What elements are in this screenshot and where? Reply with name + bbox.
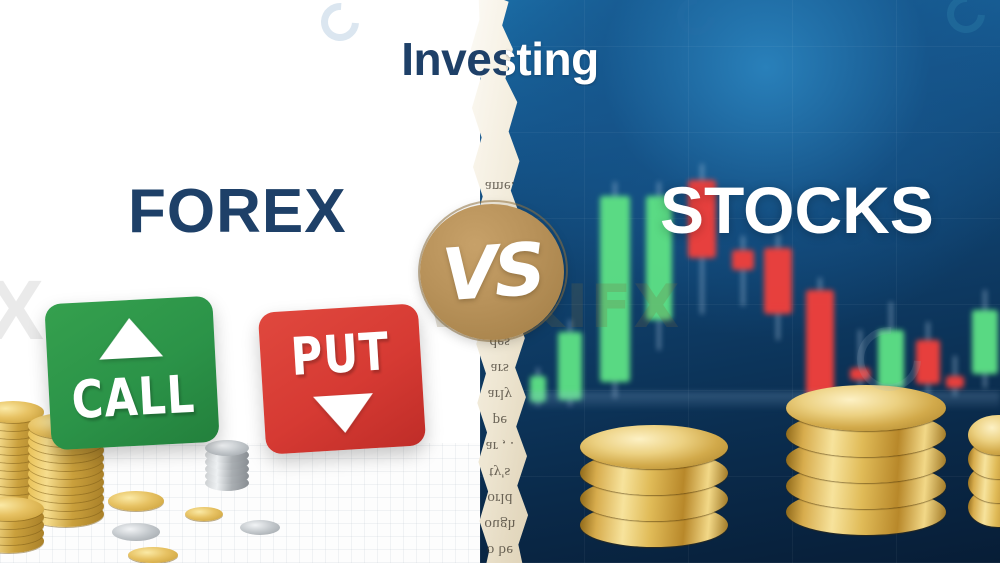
gold-coin-stack — [128, 547, 178, 563]
left-edge-watermark: X — [0, 262, 44, 359]
silver-coin — [205, 440, 249, 456]
candle-body — [600, 196, 630, 382]
silver-coin-stack — [205, 433, 249, 491]
candle — [732, 110, 754, 410]
candle — [600, 110, 630, 410]
triangle-up-icon — [97, 316, 163, 359]
silver-coin-stack — [240, 520, 280, 535]
candle — [688, 110, 716, 410]
stocks-heading: STOCKS — [660, 172, 934, 248]
versus-badge: VS — [410, 196, 580, 344]
gold-coin — [185, 507, 223, 521]
candle — [972, 110, 998, 410]
candle — [646, 110, 672, 410]
call-card-label: CALL — [70, 365, 196, 431]
candle-body — [972, 310, 998, 374]
gold-coin-stack — [108, 491, 164, 511]
gold-coin — [108, 491, 164, 511]
gold-coin-stack — [968, 391, 1000, 527]
banner-image: o beoughorldty'sar , .pearlyarsdesll,mko… — [0, 0, 1000, 563]
gold-coin — [128, 547, 178, 563]
candle-body — [946, 376, 964, 388]
gold-coin — [786, 385, 946, 431]
candle-body — [764, 248, 792, 314]
forex-heading: FOREX — [128, 176, 347, 247]
candle — [946, 110, 964, 410]
call-card[interactable]: CALL — [44, 296, 219, 451]
put-card-label: PUT — [289, 322, 391, 388]
gold-coin-stack — [580, 399, 728, 547]
versus-badge-label: VS — [415, 199, 568, 345]
gold-coin-stack — [0, 489, 44, 553]
gold-coin — [580, 425, 728, 469]
candle-body — [732, 250, 754, 270]
silver-coin — [112, 523, 160, 541]
banner-title: Investing Investing — [0, 32, 1000, 86]
silver-coin — [240, 520, 280, 535]
silver-coin-stack — [112, 523, 160, 541]
gold-coin-stack — [786, 359, 946, 535]
triangle-down-icon — [313, 393, 375, 435]
put-card[interactable]: PUT — [258, 303, 426, 455]
gold-coin-stack — [185, 507, 223, 521]
